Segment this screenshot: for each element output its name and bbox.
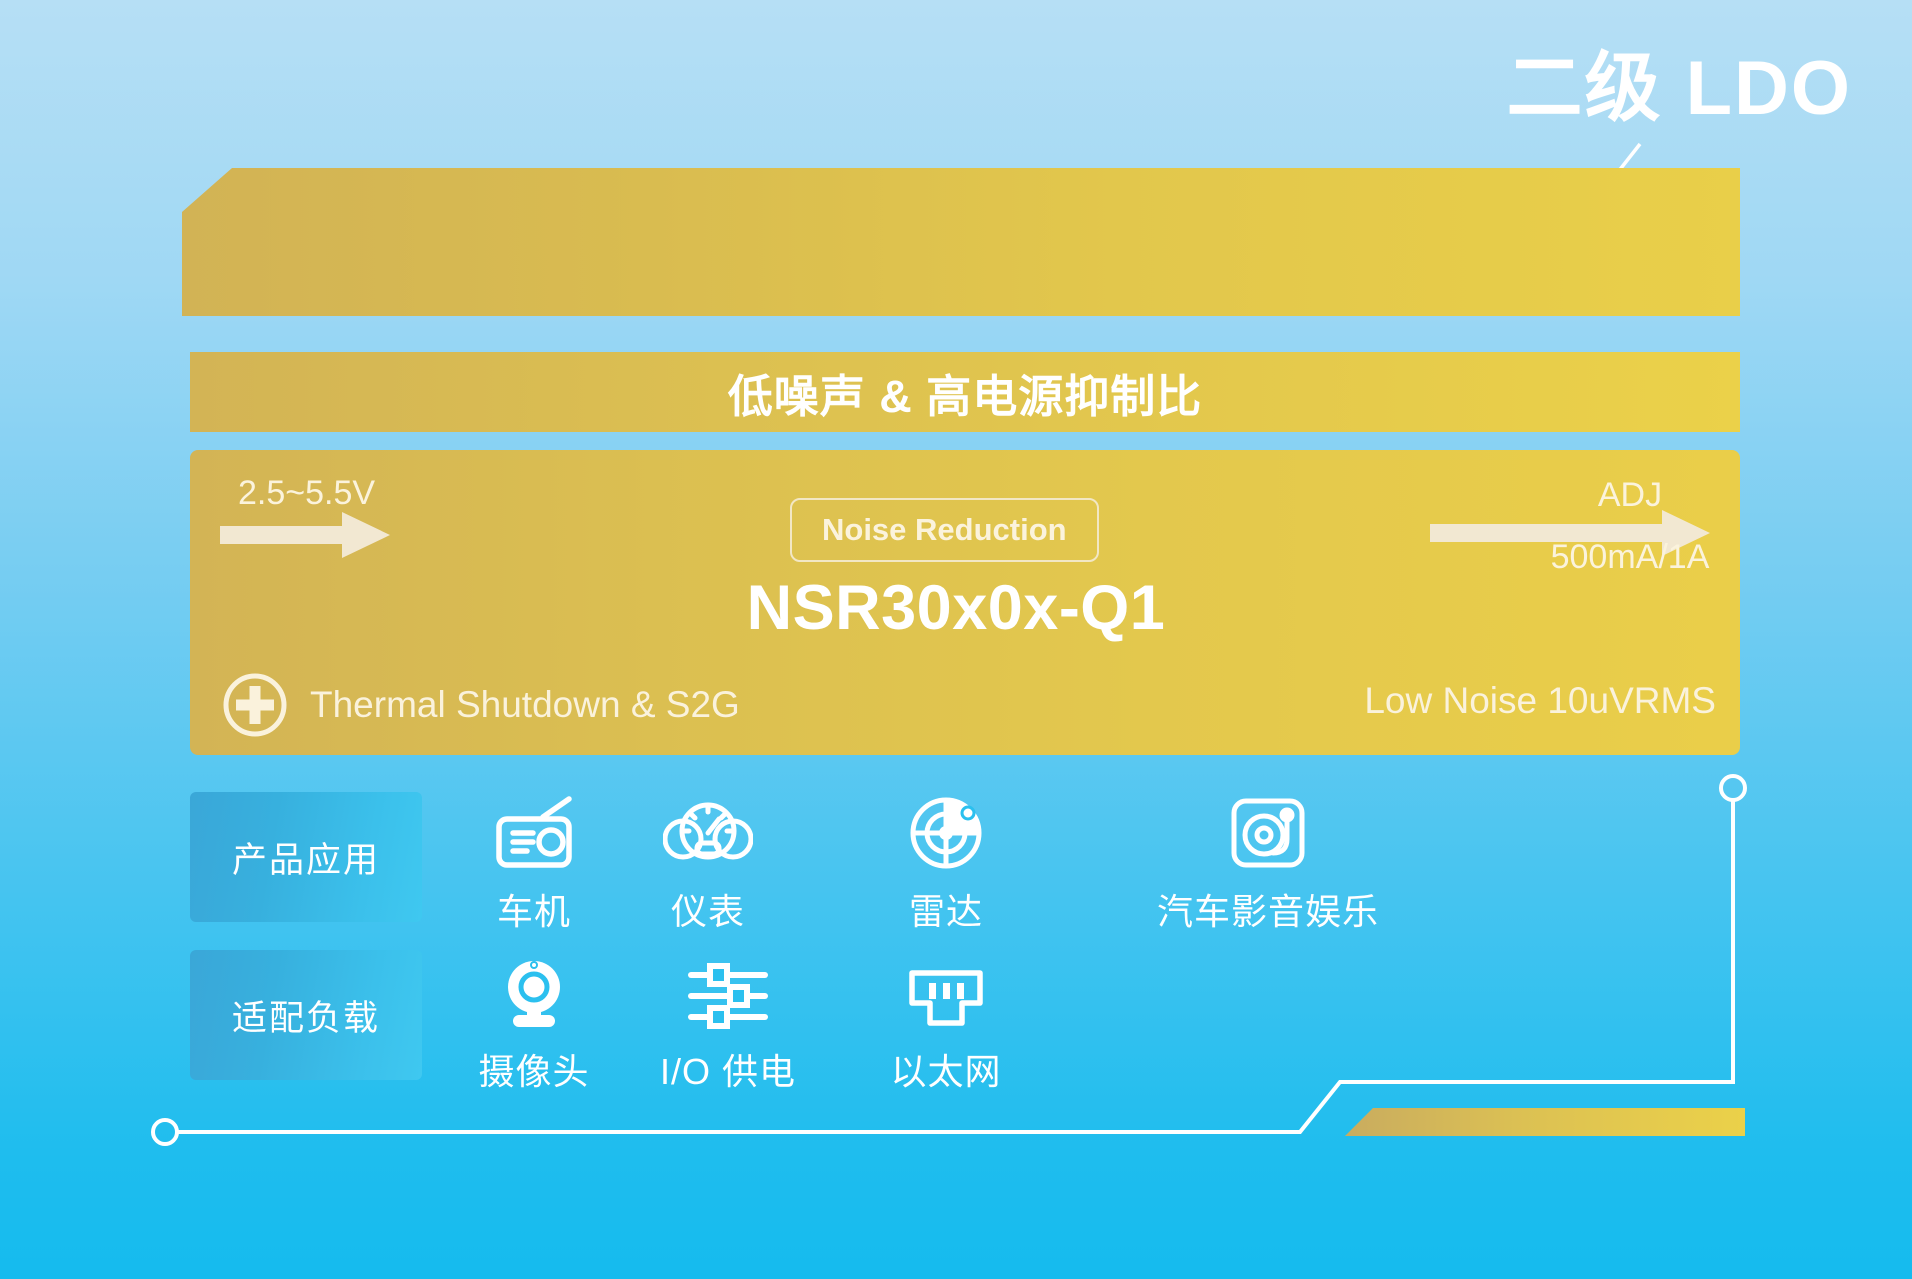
app-item-instrument-cluster[interactable]: 仪表 — [638, 795, 778, 935]
arrow-right-icon — [220, 512, 390, 558]
app-item-ethernet[interactable]: 以太网 — [876, 955, 1016, 1095]
feature-low-noise-label: Low Noise 10uVRMS — [1364, 680, 1716, 722]
app-caption: 车机 — [497, 883, 571, 935]
subtitle-text: 低噪声 & 高电源抑制比 — [728, 360, 1203, 425]
header-banner — [182, 168, 1740, 316]
bottom-gold-accent — [1345, 1108, 1745, 1136]
page-title: 二级 LDO — [1506, 26, 1852, 136]
app-item-radar[interactable]: 雷达 — [876, 795, 1016, 935]
app-caption: 汽车影音娱乐 — [1157, 883, 1379, 935]
webcam-icon — [497, 955, 571, 1031]
feature-thermal-shutdown: Thermal Shutdown & S2G — [222, 672, 740, 738]
app-caption: 仪表 — [671, 883, 745, 935]
sliders-icon — [687, 955, 769, 1031]
chip-part-number: NSR30x0x-Q1 — [0, 572, 1912, 644]
row-label-text: 产品应用 — [232, 832, 380, 883]
input-voltage-label: 2.5~5.5V — [238, 474, 375, 513]
car-radio-icon — [493, 795, 575, 871]
row-label-product-applications: 产品应用 — [190, 792, 422, 922]
app-caption: 以太网 — [890, 1043, 1001, 1095]
turntable-icon — [1229, 795, 1307, 871]
instrument-cluster-icon — [663, 795, 753, 871]
app-item-io-power[interactable]: I/O 供电 — [638, 955, 818, 1095]
row-label-text: 适配负载 — [232, 990, 380, 1041]
radar-icon — [906, 795, 986, 871]
noise-reduction-badge: Noise Reduction — [790, 498, 1099, 562]
feature-thermal-label: Thermal Shutdown & S2G — [310, 684, 740, 726]
app-item-car-radio[interactable]: 车机 — [464, 795, 604, 935]
subtitle-banner: 低噪声 & 高电源抑制比 — [190, 352, 1740, 432]
app-caption: I/O 供电 — [660, 1043, 796, 1095]
row-label-supported-loads: 适配负载 — [190, 950, 422, 1080]
app-caption: 摄像头 — [478, 1043, 589, 1095]
infographic-canvas: 二级 LDO 低噪声 & 高电源抑制比 2.5~5.5V ADJ 500mA/1… — [0, 0, 1912, 1279]
app-caption: 雷达 — [909, 883, 983, 935]
ethernet-port-icon — [907, 955, 985, 1031]
plus-circle-icon — [222, 672, 288, 738]
app-item-camera[interactable]: 摄像头 — [464, 955, 604, 1095]
app-item-infotainment[interactable]: 汽车影音娱乐 — [1148, 795, 1388, 935]
